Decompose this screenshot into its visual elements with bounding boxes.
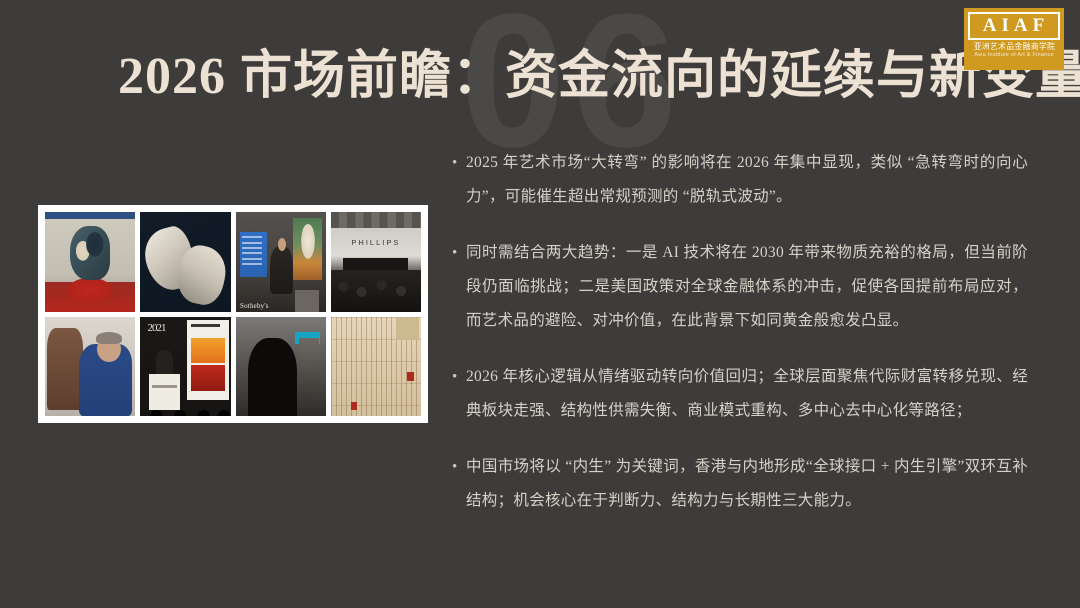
- armchair: [47, 328, 83, 410]
- red-seal-stamp-secondary: [351, 402, 357, 410]
- image-collage: Sotheby's PHILLIPS 2021: [38, 205, 428, 423]
- seated-figure-head: [97, 336, 120, 362]
- collage-tile-christies-rothko-auction: 2021: [140, 317, 230, 417]
- rothko-painting-panel: [187, 320, 229, 400]
- skyline-tower: [299, 338, 319, 400]
- bullet-text: 2026 年核心逻辑从情绪驱动转向价值回归；全球层面聚焦代际财富转移兑现、经典板…: [466, 360, 1028, 428]
- logo-name-cn: 亚洲艺术品金融商学院: [973, 43, 1055, 51]
- bullet-marker-icon: •: [452, 360, 466, 428]
- bullet-text: 2025 年艺术市场“大转弯” 的影响将在 2026 年集中显现，类似 “急转弯…: [466, 146, 1028, 214]
- bullet-text: 中国市场将以 “内生” 为关键词，香港与内地形成“全球接口 + 内生引擎”双环互…: [466, 450, 1028, 518]
- scroll-colophon-patch: [396, 318, 419, 340]
- page-title: 2026 市场前瞻：资金流向的延续与新变量: [118, 48, 1080, 105]
- audience-silhouettes: [140, 400, 230, 416]
- collage-tile-phillips-saleroom: PHILLIPS: [331, 212, 421, 312]
- bullet-item: • 中国市场将以 “内生” 为关键词，香港与内地形成“全球接口 + 内生引擎”双…: [452, 450, 1028, 518]
- collage-tile-silhouette-city-skyline: [236, 317, 326, 417]
- auction-year-label: 2021: [147, 324, 165, 333]
- bullet-marker-icon: •: [452, 236, 466, 338]
- auctioneer-figure: [270, 246, 293, 294]
- aiaf-logo: AIAF 亚洲艺术品金融商学院 Asia Institute of Art & …: [964, 8, 1064, 70]
- collage-tile-cubist-portrait-painting: [45, 212, 135, 312]
- bullet-text: 同时需结合两大趋势：一是 AI 技术将在 2030 年带来物质充裕的格局，但当前…: [466, 236, 1028, 338]
- collage-tile-sothebys-auctioneer: Sotheby's: [236, 212, 326, 312]
- person-silhouette: [248, 338, 297, 416]
- bullet-item: • 2026 年核心逻辑从情绪驱动转向价值回归；全球层面聚焦代际财富转移兑现、经…: [452, 360, 1028, 428]
- collage-grid: Sotheby's PHILLIPS 2021: [45, 212, 421, 416]
- bullet-marker-icon: •: [452, 146, 466, 214]
- bullet-item: • 2025 年艺术市场“大转弯” 的影响将在 2026 年集中显现，类似 “急…: [452, 146, 1028, 214]
- logo-mark-text: AIAF: [968, 12, 1060, 40]
- logo-name-en: Asia Institute of Art & Finance: [974, 52, 1054, 59]
- bullet-list: • 2025 年艺术市场“大转弯” 的影响将在 2026 年集中显现，类似 “急…: [452, 146, 1028, 518]
- bullet-item: • 同时需结合两大趋势：一是 AI 技术将在 2030 年带来物质充裕的格局，但…: [452, 236, 1028, 338]
- collage-tile-chinese-calligraphy-scroll: [331, 317, 421, 417]
- collage-tile-gloves-artwork: [140, 212, 230, 312]
- bullet-marker-icon: •: [452, 450, 466, 518]
- auction-podium: [295, 290, 318, 312]
- phillips-brand-label: PHILLIPS: [331, 238, 421, 247]
- sothebys-brand-label: Sotheby's: [240, 302, 269, 310]
- collage-tile-seated-man-portrait: [45, 317, 135, 417]
- auction-lot-screen: [240, 232, 267, 277]
- ceiling-beams: [331, 212, 421, 228]
- red-seal-stamp: [407, 372, 414, 381]
- christies-auctioneer-figure: [156, 350, 172, 376]
- artwork-on-wall: [293, 218, 322, 280]
- audience-crowd: [331, 270, 421, 312]
